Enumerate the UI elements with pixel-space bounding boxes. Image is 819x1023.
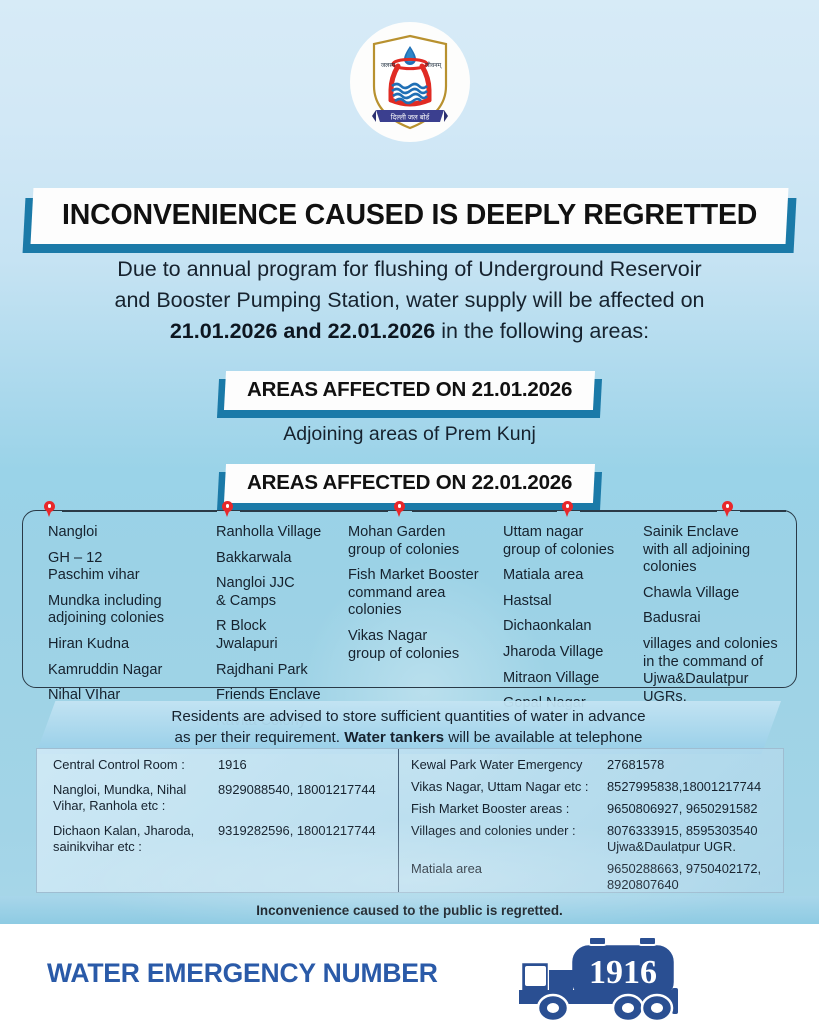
poster-title: INCONVENIENCE CAUSED IS DEEPLY REGRETTED	[62, 199, 757, 232]
advisory-line-1: Residents are advised to store sufficien…	[36, 706, 781, 727]
map-pin-icon	[44, 501, 55, 518]
area-column-4: Uttam nagar group of colonies Matiala ar…	[487, 524, 627, 680]
contact-row: Fish Market Booster areas : 9650806927, …	[411, 801, 779, 817]
contact-label: Vikas Nagar, Uttam Nagar etc :	[411, 779, 607, 795]
contact-column-left: Central Control Room : 1916 Nangloi, Mun…	[37, 749, 398, 892]
area-item: Badusrai	[643, 610, 781, 628]
contact-label: Nangloi, Mundka, Nihal Vihar, Ranhola et…	[53, 782, 218, 814]
contact-label: Dichaon Kalan, Jharoda, sainikvihar etc …	[53, 823, 218, 855]
area-item: Mohan Garden group of colonies	[348, 524, 481, 559]
emblem-icon: जलस्य जीवनम् दिल्ली जल बोर्ड	[358, 30, 462, 134]
footer-bar: WATER EMERGENCY NUMBER	[0, 924, 819, 1023]
regret-strip: Inconvenience caused to the public is re…	[0, 896, 819, 924]
contact-label: Fish Market Booster areas :	[411, 801, 607, 817]
contact-numbers-table: Central Control Room : 1916 Nangloi, Mun…	[36, 748, 784, 893]
intro-line-2: and Booster Pumping Station, water suppl…	[40, 285, 779, 316]
title-banner: INCONVENIENCE CAUSED IS DEEPLY REGRETTED	[32, 188, 787, 244]
area-item: Matiala area	[503, 567, 621, 585]
area-item: Chawla Village	[643, 585, 781, 603]
logo-container: जलस्य जीवनम् दिल्ली जल बोर्ड	[0, 22, 819, 142]
area-item: Dichaonkalan	[503, 618, 621, 636]
area-item: Hastsal	[503, 593, 621, 611]
area-item: Jharoda Village	[503, 644, 621, 662]
area-item: Ranholla Village	[216, 524, 326, 542]
intro-line-1: Due to annual program for flushing of Un…	[40, 254, 779, 285]
intro-line-3: 21.01.2026 and 22.01.2026 in the followi…	[40, 316, 779, 347]
area-item: Mitraon Village	[503, 670, 621, 688]
intro-dates: 21.01.2026 and 22.01.2026	[170, 319, 435, 343]
area-item: R Block Jwalapuri	[216, 618, 326, 653]
water-emergency-number-label: WATER EMERGENCY NUMBER	[47, 958, 438, 989]
map-pin-icon	[562, 501, 573, 518]
rail-dash	[412, 510, 557, 512]
advisory-water-tankers: Water tankers	[344, 729, 444, 746]
contact-value: 9650806927, 9650291582	[607, 801, 779, 817]
tanker-number-text: 1916	[589, 954, 657, 991]
contact-value: 9650288663, 9750402172, 8920807640	[607, 861, 779, 893]
area-item: Fish Market Booster command area colonie…	[348, 567, 481, 620]
area-item: Vikas Nagar group of colonies	[348, 628, 481, 663]
area-column-5: Sainik Enclave with all adjoining coloni…	[627, 524, 787, 680]
area-item: Uttam nagar group of colonies	[503, 524, 621, 559]
section-banner-day2-face: AREAS AFFECTED ON 22.01.2026	[224, 464, 595, 503]
area-item: Mundka including adjoining colonies	[48, 593, 194, 628]
contact-row: Villages and colonies under : 8076333915…	[411, 823, 779, 855]
section-banner-day1-text: AREAS AFFECTED ON 21.01.2026	[247, 378, 572, 402]
intro-paragraph: Due to annual program for flushing of Un…	[40, 254, 779, 347]
advisory-band: Residents are advised to store sufficien…	[36, 701, 781, 754]
section-banner-day1: AREAS AFFECTED ON 21.01.2026	[225, 371, 594, 410]
section-banner-day1-wrap: AREAS AFFECTED ON 21.01.2026	[0, 371, 819, 410]
advisory-line-2: as per their requirement. Water tankers …	[36, 727, 781, 748]
area-item: Sainik Enclave with all adjoining coloni…	[643, 524, 781, 577]
contact-value: 1916	[218, 757, 394, 773]
rail-dash	[580, 510, 717, 512]
intro-line-3-rest: in the following areas:	[435, 319, 649, 343]
advisory-text: Residents are advised to store sufficien…	[36, 701, 781, 748]
emblem-right-text: जीवनम्	[424, 61, 441, 69]
rail-dash	[740, 510, 786, 512]
contact-row: Vikas Nagar, Uttam Nagar etc : 852799583…	[411, 779, 779, 795]
contact-value: 8076333915, 8595303540 Ujwa&Daulatpur UG…	[607, 823, 779, 855]
title-banner-wrap: INCONVENIENCE CAUSED IS DEEPLY REGRETTED	[0, 188, 819, 244]
contact-value: 8929088540, 18001217744	[218, 782, 394, 798]
area-item: Kamruddin Nagar	[48, 662, 194, 680]
contact-label: Matiala area	[411, 861, 607, 877]
contact-label: Central Control Room :	[53, 757, 218, 773]
contact-value: 8527995838,18001217744	[607, 779, 779, 795]
contact-row: Matiala area 9650288663, 9750402172, 892…	[411, 861, 779, 893]
emblem-left-text: जलस्य	[380, 63, 395, 69]
contact-label: Kewal Park Water Emergency	[411, 757, 607, 773]
contact-row: Central Control Room : 1916	[53, 757, 394, 773]
advisory-line-2-post: will be available at telephone	[444, 729, 642, 746]
area-item: Bakkarwala	[216, 550, 326, 568]
section-day1-subtitle: Adjoining areas of Prem Kunj	[0, 423, 819, 446]
delhi-jal-board-logo: जलस्य जीवनम् दिल्ली जल बोर्ड	[350, 22, 470, 142]
section-banner-day1-face: AREAS AFFECTED ON 21.01.2026	[224, 371, 595, 410]
areas-box-pin-rail	[22, 503, 797, 519]
contact-row: Nangloi, Mundka, Nihal Vihar, Ranhola et…	[53, 782, 394, 814]
map-pin-icon	[394, 501, 405, 518]
water-supply-notice-poster: जलस्य जीवनम् दिल्ली जल बोर्ड INCONVENIEN…	[0, 0, 819, 1023]
area-column-1: Nangloi GH – 12 Paschim vihar Mundka inc…	[32, 524, 200, 680]
contact-value: 27681578	[607, 757, 779, 773]
regret-text: Inconvenience caused to the public is re…	[256, 903, 563, 918]
rail-dash	[240, 510, 388, 512]
tanker-truck-svg: 1916	[505, 926, 695, 1022]
title-banner-face: INCONVENIENCE CAUSED IS DEEPLY REGRETTED	[30, 188, 788, 244]
contact-value: 9319282596, 18001217744	[218, 823, 394, 839]
contact-label: Villages and colonies under :	[411, 823, 607, 839]
area-item: GH – 12 Paschim vihar	[48, 550, 194, 585]
advisory-line-2-pre: as per their requirement.	[175, 729, 345, 746]
contact-row: Kewal Park Water Emergency 27681578	[411, 757, 779, 773]
area-item: Nangloi JJC & Camps	[216, 575, 326, 610]
area-column-3: Mohan Garden group of colonies Fish Mark…	[332, 524, 487, 680]
contact-column-right: Kewal Park Water Emergency 27681578 Vika…	[398, 749, 783, 892]
area-item: Nangloi	[48, 524, 194, 542]
section-banner-day2-text: AREAS AFFECTED ON 22.01.2026	[247, 471, 572, 495]
area-column-2: Ranholla Village Bakkarwala Nangloi JJC …	[200, 524, 332, 680]
rail-dash	[62, 510, 217, 512]
water-tanker-truck-icon: 1916	[505, 926, 695, 1023]
emblem-ribbon-text: दिल्ली जल बोर्ड	[390, 113, 430, 122]
area-item: Hiran Kudna	[48, 636, 194, 654]
map-pin-icon	[222, 501, 233, 518]
area-item: Rajdhani Park	[216, 662, 326, 680]
contact-row: Dichaon Kalan, Jharoda, sainikvihar etc …	[53, 823, 394, 855]
section-banner-day2-wrap: AREAS AFFECTED ON 22.01.2026	[0, 464, 819, 503]
affected-areas-columns: Nangloi GH – 12 Paschim vihar Mundka inc…	[22, 510, 797, 688]
map-pin-icon	[722, 501, 733, 518]
section-banner-day2: AREAS AFFECTED ON 22.01.2026	[225, 464, 594, 503]
area-item: villages and colonies in the command of …	[643, 636, 781, 706]
